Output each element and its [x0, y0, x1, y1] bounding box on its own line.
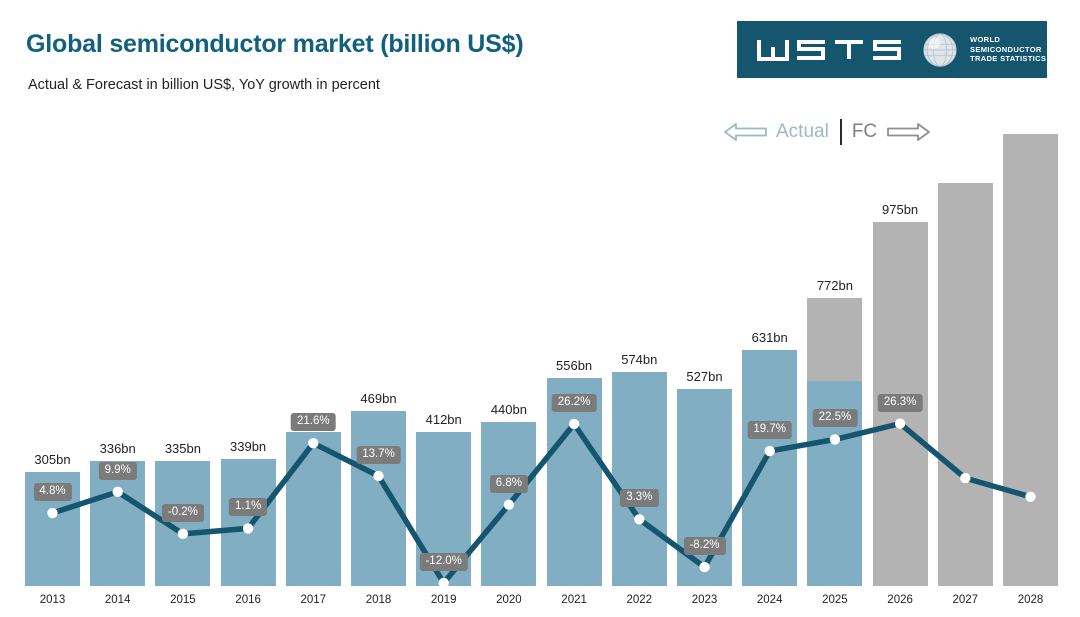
- x-label-2025: 2025: [822, 594, 848, 606]
- x-label-2022: 2022: [627, 594, 653, 606]
- bar-2028: [1003, 134, 1058, 586]
- bar-value-2020: 440bn: [491, 402, 527, 417]
- growth-label-2018: 13.7%: [356, 446, 401, 464]
- x-label-2017: 2017: [301, 594, 327, 606]
- x-label-2027: 2027: [953, 594, 979, 606]
- bar-2023: [677, 389, 732, 586]
- bar-value-2016: 339bn: [230, 439, 266, 454]
- x-label-2023: 2023: [692, 594, 718, 606]
- growth-label-2017: 21.6%: [291, 413, 336, 431]
- bar-value-2023: 527bn: [686, 369, 722, 384]
- x-label-2024: 2024: [757, 594, 783, 606]
- chart-plot-area: 305bn336bn335bn339bn412bn469bn412bn440bn…: [0, 0, 1080, 617]
- bar-2025: [807, 298, 862, 586]
- x-label-2020: 2020: [496, 594, 522, 606]
- growth-label-2016: 1.1%: [229, 498, 267, 516]
- growth-label-2026: 26.3%: [878, 394, 923, 412]
- growth-label-2025: 22.5%: [813, 409, 858, 427]
- x-label-2028: 2028: [1018, 594, 1044, 606]
- bar-2016: [221, 459, 276, 586]
- bar-value-2024: 631bn: [752, 330, 788, 345]
- x-label-2014: 2014: [105, 594, 131, 606]
- growth-label-2020: 6.8%: [490, 475, 528, 493]
- bar-value-2021: 556bn: [556, 358, 592, 373]
- growth-label-2013: 4.8%: [33, 483, 71, 501]
- x-label-2021: 2021: [561, 594, 587, 606]
- bar-value-2015: 335bn: [165, 441, 201, 456]
- bar-2022: [612, 372, 667, 586]
- bar-2018: [351, 411, 406, 586]
- bar-value-2014: 336bn: [100, 441, 136, 456]
- bar-2024: [742, 350, 797, 586]
- growth-label-2022: 3.3%: [620, 489, 658, 507]
- bar-value-2026: 975bn: [882, 202, 918, 217]
- bar-value-2025: 772bn: [817, 278, 853, 293]
- growth-label-2014: 9.9%: [99, 462, 137, 480]
- x-label-2015: 2015: [170, 594, 196, 606]
- bar-value-2013: 305bn: [34, 452, 70, 467]
- bar-2027: [938, 183, 993, 586]
- x-label-2013: 2013: [40, 594, 66, 606]
- x-label-2026: 2026: [887, 594, 913, 606]
- bar-2020: [481, 422, 536, 586]
- growth-label-2023: -8.2%: [683, 537, 725, 555]
- bar-value-2019: 412bn: [426, 412, 462, 427]
- chart-page: Global semiconductor market (billion US$…: [0, 0, 1080, 617]
- growth-label-2021: 26.2%: [552, 394, 597, 412]
- x-label-2018: 2018: [366, 594, 392, 606]
- bar-2015: [155, 461, 210, 586]
- bar-2017: [286, 432, 341, 586]
- growth-label-2024: 19.7%: [747, 421, 792, 439]
- growth-label-2015: -0.2%: [162, 504, 204, 522]
- x-label-2019: 2019: [431, 594, 457, 606]
- bar-value-2018: 469bn: [360, 391, 396, 406]
- x-label-2016: 2016: [235, 594, 261, 606]
- growth-label-2019: -12.0%: [419, 553, 467, 571]
- bar-value-2022: 574bn: [621, 352, 657, 367]
